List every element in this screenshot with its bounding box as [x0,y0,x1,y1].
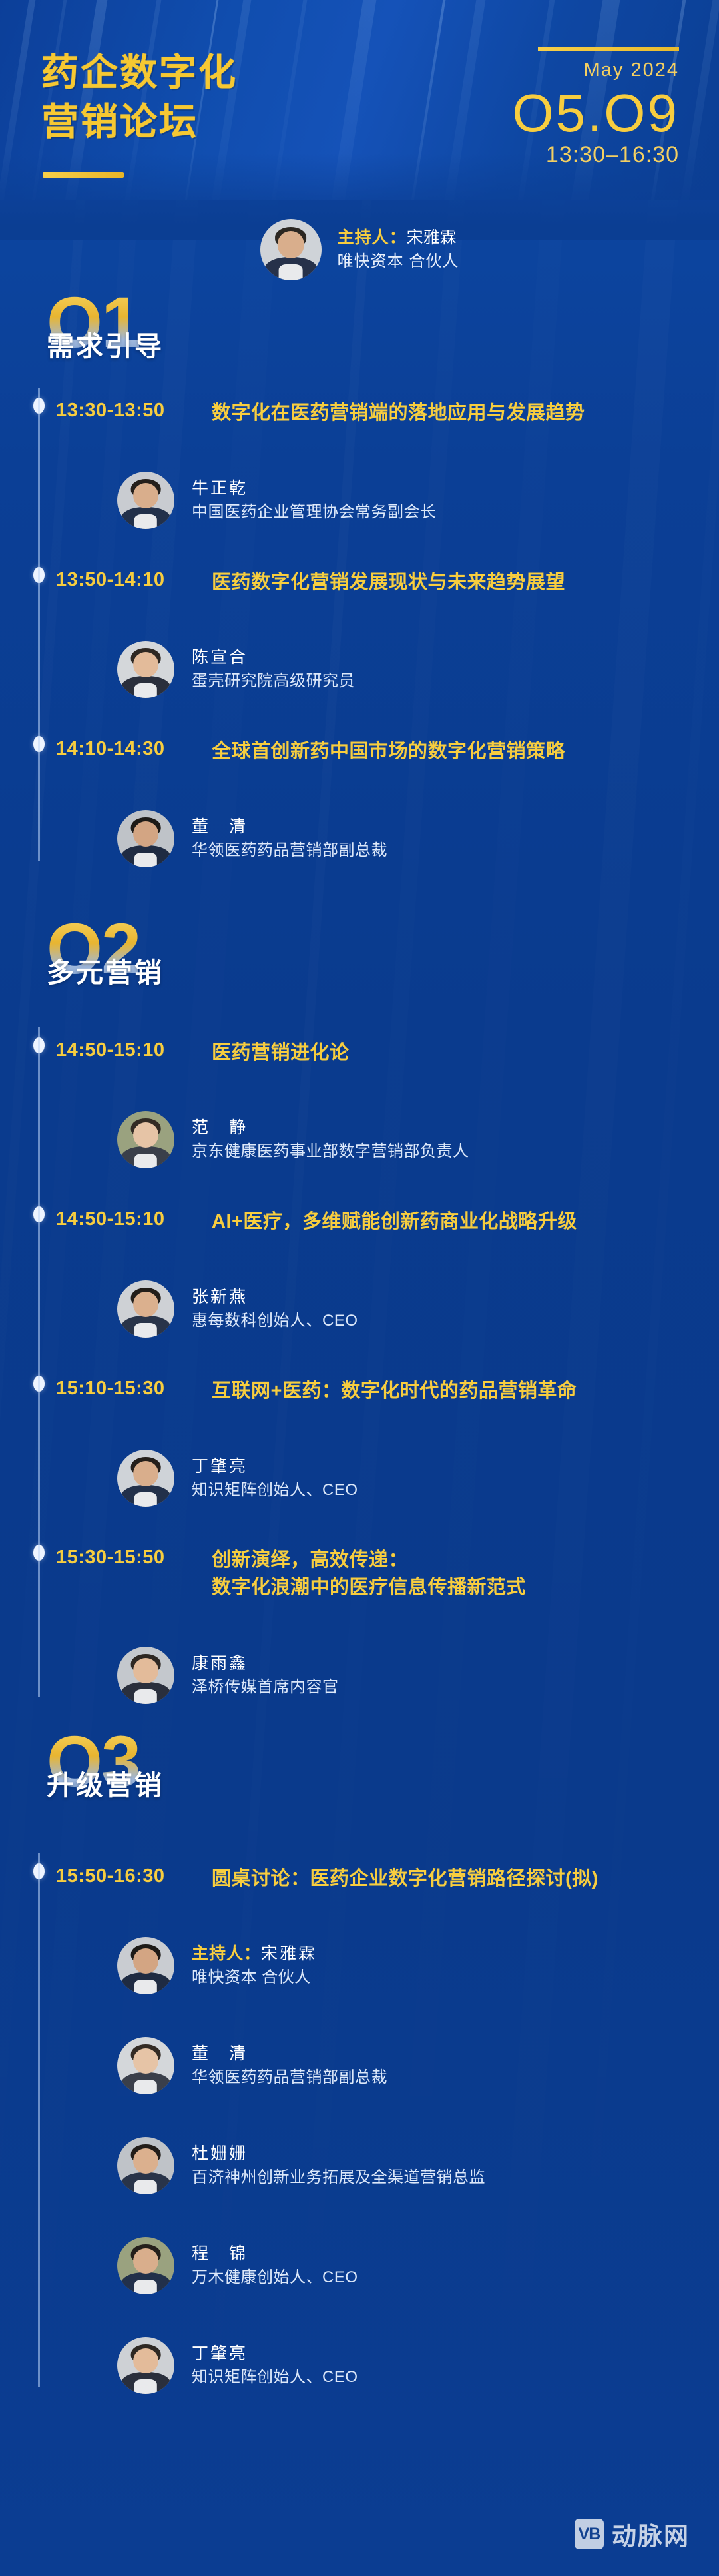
speaker-block: 程 锦万木健康创始人、CEO [117,2237,358,2294]
speaker-org: 知识矩阵创始人、CEO [192,2366,358,2389]
speaker-block: 张新燕惠每数科创始人、CEO [117,1280,358,1338]
speaker-avatar [117,2037,174,2094]
speaker-text: 丁肇亮知识矩阵创始人、CEO [192,1454,358,1502]
speaker-avatar [117,1647,174,1704]
title-line-1: 药企数字化 [41,48,238,97]
agenda-item-title-line: 医药营销进化论 [212,1039,350,1067]
speaker-name: 丁肇亮 [192,2342,358,2365]
date-month: May 2024 [512,61,679,80]
portrait-placeholder [117,472,174,529]
speaker-text: 康雨鑫泽桥传媒首席内容官 [192,1651,339,1699]
speaker-name: 主持人：宋雅霖 [192,1942,317,1966]
speaker-text: 主持人：宋雅霖唯快资本 合伙人 [192,1942,317,1989]
speaker-avatar [117,810,174,867]
agenda-item-title-line: AI+医疗，多维赋能创新药商业化战略升级 [212,1208,577,1236]
agenda-item-title: AI+医疗，多维赋能创新药商业化战略升级 [212,1208,577,1236]
speaker-text: 杜姗姗百济神州创新业务拓展及全渠道营销总监 [192,2142,485,2189]
agenda-item-title-line: 医药数字化营销发展现状与未来趋势展望 [212,569,565,596]
section-name: 多元营销 [47,950,164,990]
portrait-placeholder [117,641,174,698]
speaker-name: 程 锦 [192,2242,358,2266]
host-text: 主持人：宋雅霖 唯快资本 合伙人 [338,226,459,273]
speaker-org: 华领医药药品营销部副总裁 [192,2066,387,2090]
speaker-text: 张新燕惠每数科创始人、CEO [192,1285,358,1332]
speaker-name: 丁肇亮 [192,1454,358,1478]
date-time-range: 13:30–16:30 [512,143,679,166]
speaker-avatar [117,1280,174,1338]
portrait-placeholder [117,1450,174,1507]
timeline-rail [38,1027,40,1697]
speaker-org: 京东健康医药事业部数字营销部负责人 [192,1140,469,1164]
title-line-2: 营销论坛 [41,97,238,147]
speaker-text: 董 清华领医药药品营销部副总裁 [192,815,387,862]
agenda-item-time: 14:50-15:10 [56,1039,165,1061]
host-avatar [260,219,322,280]
section-header-O1: O1需求引导 [47,290,164,364]
speaker-block: 丁肇亮知识矩阵创始人、CEO [117,2337,358,2394]
section-header-O2: O2多元营销 [47,916,164,990]
speaker-avatar [117,1111,174,1168]
agenda-item-title: 圆桌讨论：医药企业数字化营销路径探讨(拟) [212,1865,599,1893]
agenda-item-time: 13:50-14:10 [56,569,165,591]
agenda-item-title: 数字化在医药营销端的落地应用与发展趋势 [212,400,585,427]
watermark-text: 动脉网 [612,2516,690,2552]
portrait-placeholder [117,1937,174,1994]
agenda-item-title-line: 创新演绎，高效传递： [212,1547,526,1574]
agenda-item-title: 创新演绎，高效传递：数字化浪潮中的医疗信息传播新范式 [212,1547,526,1601]
speaker-block: 董 清华领医药药品营销部副总裁 [117,810,387,867]
agenda-item-title-line: 互联网+医药：数字化时代的药品营销革命 [212,1378,577,1405]
agenda-item-time: 13:30-13:50 [56,400,165,422]
date-block: May 2024 O5.O9 13:30–16:30 [512,47,679,166]
portrait-placeholder [117,810,174,867]
speaker-avatar [117,1450,174,1507]
host-strip: 主持人：宋雅霖 唯快资本 合伙人 [0,215,719,285]
speaker-text: 董 清华领医药药品营销部副总裁 [192,2042,387,2089]
host-org: 唯快资本 合伙人 [338,250,459,273]
speaker-name: 康雨鑫 [192,1651,339,1675]
speaker-org: 泽桥传媒首席内容官 [192,1676,339,1699]
timeline-rail [38,388,40,861]
watermark: VB 动脉网 [575,2516,690,2552]
host-name-line: 主持人：宋雅霖 [338,226,459,250]
agenda-item-title-line: 全球首创新药中国市场的数字化营销策略 [212,738,565,765]
speaker-name: 牛正乾 [192,476,437,500]
speaker-avatar [117,2337,174,2394]
host-label: 主持人： [338,228,407,247]
speaker-org: 中国医药企业管理协会常务副会长 [192,501,437,524]
watermark-badge: VB [575,2519,604,2549]
speaker-org: 惠每数科创始人、CEO [192,1310,358,1333]
portrait-placeholder [117,1647,174,1704]
speaker-block: 牛正乾中国医药企业管理协会常务副会长 [117,472,437,529]
host-name: 宋雅霖 [407,228,457,247]
section-header-O3: O3升级营销 [47,1729,164,1803]
speaker-name: 杜姗姗 [192,2142,485,2166]
speaker-name: 董 清 [192,815,387,839]
speaker-block: 丁肇亮知识矩阵创始人、CEO [117,1450,358,1507]
speaker-text: 牛正乾中国医药企业管理协会常务副会长 [192,476,437,524]
speaker-block: 范 静京东健康医药事业部数字营销部负责人 [117,1111,469,1168]
speaker-avatar [117,1937,174,1994]
speaker-block: 董 清华领医药药品营销部副总裁 [117,2037,387,2094]
speaker-org: 百济神州创新业务拓展及全渠道营销总监 [192,2166,485,2190]
poster-title: 药企数字化 营销论坛 [41,48,238,147]
agenda-item-time: 15:10-15:30 [56,1378,165,1400]
speaker-text: 范 静京东健康医药事业部数字营销部负责人 [192,1116,469,1163]
speaker-block: 康雨鑫泽桥传媒首席内容官 [117,1647,339,1704]
speaker-avatar [117,472,174,529]
speaker-name: 范 静 [192,1116,469,1140]
speaker-block: 陈宣合蛋壳研究院高级研究员 [117,641,355,698]
agenda-item-title-line: 圆桌讨论：医药企业数字化营销路径探讨(拟) [212,1865,599,1893]
agenda-item-title: 医药数字化营销发展现状与未来趋势展望 [212,569,565,596]
speaker-text: 陈宣合蛋壳研究院高级研究员 [192,645,355,693]
portrait-placeholder [117,2237,174,2294]
date-day: O5.O9 [512,85,679,142]
speaker-org: 华领医药药品营销部副总裁 [192,839,387,863]
speaker-org: 蛋壳研究院高级研究员 [192,670,355,693]
portrait-placeholder [117,2337,174,2394]
poster-header: 药企数字化 营销论坛 May 2024 O5.O9 13:30–16:30 [0,0,719,200]
speaker-avatar [117,2137,174,2194]
speaker-name: 董 清 [192,2042,387,2066]
speaker-org: 万木健康创始人、CEO [192,2266,358,2290]
agenda-item-time: 15:50-16:30 [56,1865,165,1887]
section-name: 升级营销 [47,1763,164,1803]
speaker-block: 主持人：宋雅霖唯快资本 合伙人 [117,1937,317,1994]
agenda-item-title: 医药营销进化论 [212,1039,350,1067]
portrait-placeholder [117,1280,174,1338]
date-rule [538,47,679,51]
agenda-item-time: 14:10-14:30 [56,738,165,760]
portrait-placeholder [117,2137,174,2194]
speaker-avatar [117,2237,174,2294]
title-underline [43,172,124,178]
agenda-item-time: 15:30-15:50 [56,1547,165,1569]
speaker-org: 唯快资本 合伙人 [192,1966,317,1990]
speaker-role-label: 主持人： [192,1944,261,1963]
timeline-rail [38,1853,40,2387]
agenda-item-time: 14:50-15:10 [56,1208,165,1230]
speaker-text: 程 锦万木健康创始人、CEO [192,2242,358,2289]
speaker-name: 张新燕 [192,1285,358,1309]
speaker-name: 陈宣合 [192,645,355,669]
agenda-item-title: 互联网+医药：数字化时代的药品营销革命 [212,1378,577,1405]
section-name: 需求引导 [47,324,164,364]
speaker-block: 杜姗姗百济神州创新业务拓展及全渠道营销总监 [117,2137,485,2194]
portrait-placeholder [260,219,322,280]
speaker-text: 丁肇亮知识矩阵创始人、CEO [192,2342,358,2389]
portrait-placeholder [117,1111,174,1168]
portrait-placeholder [117,2037,174,2094]
speaker-avatar [117,641,174,698]
agenda-item-title: 全球首创新药中国市场的数字化营销策略 [212,738,565,765]
agenda-item-title-line: 数字化浪潮中的医疗信息传播新范式 [212,1574,526,1601]
agenda-item-title-line: 数字化在医药营销端的落地应用与发展趋势 [212,400,585,427]
speaker-org: 知识矩阵创始人、CEO [192,1479,358,1502]
